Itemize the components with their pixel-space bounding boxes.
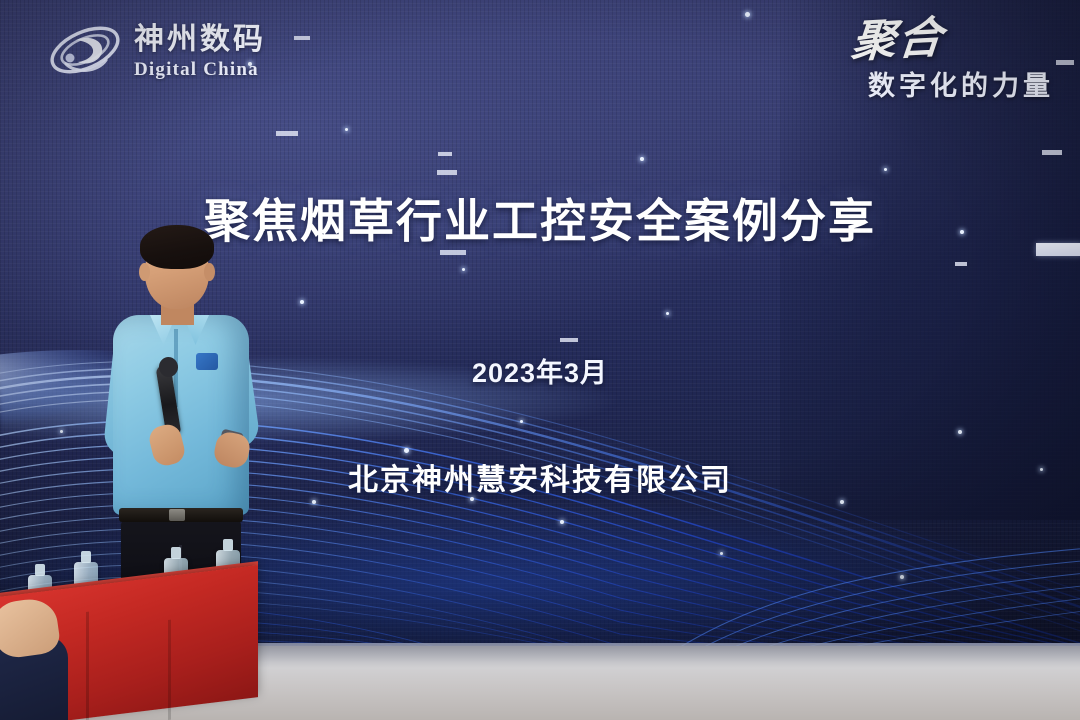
brand-calligraphy-text: 聚合 [850, 16, 946, 65]
logo-english-text: Digital China [134, 60, 266, 79]
presenter-belt-buckle [169, 509, 185, 521]
brand-subtitle-text: 数字化的力量 [852, 64, 1054, 103]
led-artifact-dash [294, 36, 310, 40]
event-brand-mark: 聚合 数字化的力量 [852, 16, 1054, 103]
presenter-ear-right [204, 263, 215, 281]
presenter-ear-left [139, 263, 150, 281]
presenter-hair [140, 225, 214, 269]
led-artifact-dash [438, 152, 452, 156]
light-particle [300, 300, 304, 304]
digital-china-wordmark: 神州数码 Digital China [134, 25, 266, 79]
led-artifact-dash [955, 262, 967, 266]
stage-floor-shadow [240, 646, 1080, 668]
digital-china-logo: 神州数码 Digital China [46, 18, 266, 86]
tablecloth-fold [86, 612, 89, 720]
light-particle [666, 312, 669, 315]
led-artifact-dash [1056, 60, 1074, 65]
light-particle [345, 128, 348, 131]
digital-china-swirl-icon [46, 18, 124, 86]
light-particle [884, 168, 887, 171]
light-particle [745, 12, 750, 17]
conference-stage-photo: 神州数码 Digital China 聚合 数字化的力量 聚焦烟草行业工控安全案… [0, 0, 1080, 720]
light-particle [640, 157, 644, 161]
light-particle [462, 268, 465, 271]
led-artifact-dash [437, 170, 457, 175]
logo-chinese-text: 神州数码 [134, 25, 266, 55]
presenter-polo-shirt [113, 315, 249, 515]
led-artifact-dash [276, 131, 298, 136]
led-artifact-dash [1042, 150, 1062, 155]
presenter-chest-logo [196, 353, 218, 370]
tablecloth-fold [168, 620, 171, 720]
